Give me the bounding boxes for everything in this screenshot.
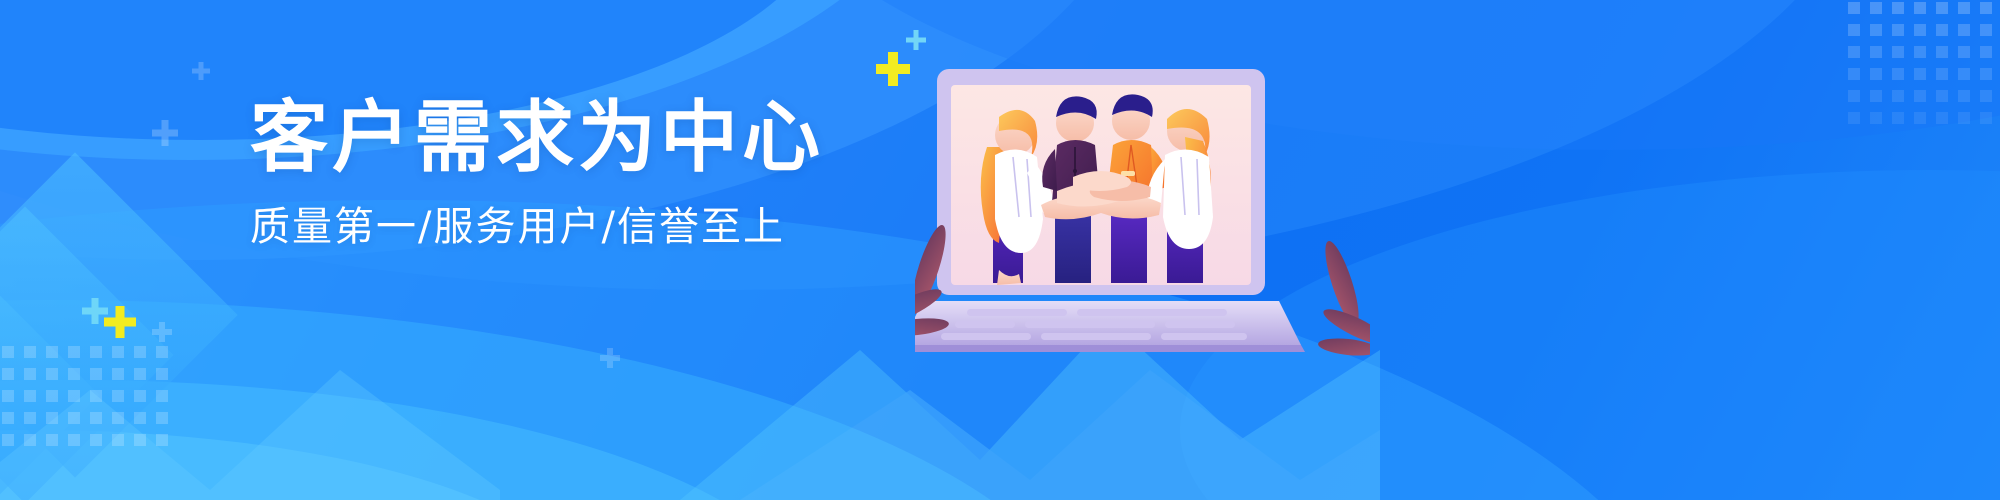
chevron-shape-1	[0, 152, 238, 477]
plus-icon-faint-right	[600, 348, 620, 368]
promo-banner: 客户需求为中心 质量第一/服务用户/信誉至上	[0, 0, 2000, 500]
plus-icon-faint-bottom	[152, 322, 172, 342]
plus-icon-cyan-bottom-left	[82, 298, 108, 324]
mountain-silhouette-left	[0, 300, 500, 500]
plus-icon-cyan-small-top	[906, 30, 926, 50]
page-title: 客户需求为中心	[250, 95, 890, 181]
plus-icon-faint-top	[192, 62, 210, 80]
background-wave-8	[0, 430, 580, 500]
plus-icon-yellow-bottom-left	[104, 306, 136, 338]
chevron-shape-3	[0, 261, 99, 500]
chevron-shape-2	[0, 207, 173, 500]
banner-copy: 客户需求为中心 质量第一/服务用户/信誉至上	[250, 95, 890, 251]
plus-icon-yellow-large	[876, 52, 910, 86]
banner-subtitle: 质量第一/服务用户/信誉至上	[250, 203, 890, 251]
laptop-illustration	[915, 55, 1345, 355]
laptop-base-keyboard	[915, 301, 1305, 352]
background-wave-7	[0, 380, 820, 500]
plus-icon-faint-upper-left	[152, 120, 178, 146]
